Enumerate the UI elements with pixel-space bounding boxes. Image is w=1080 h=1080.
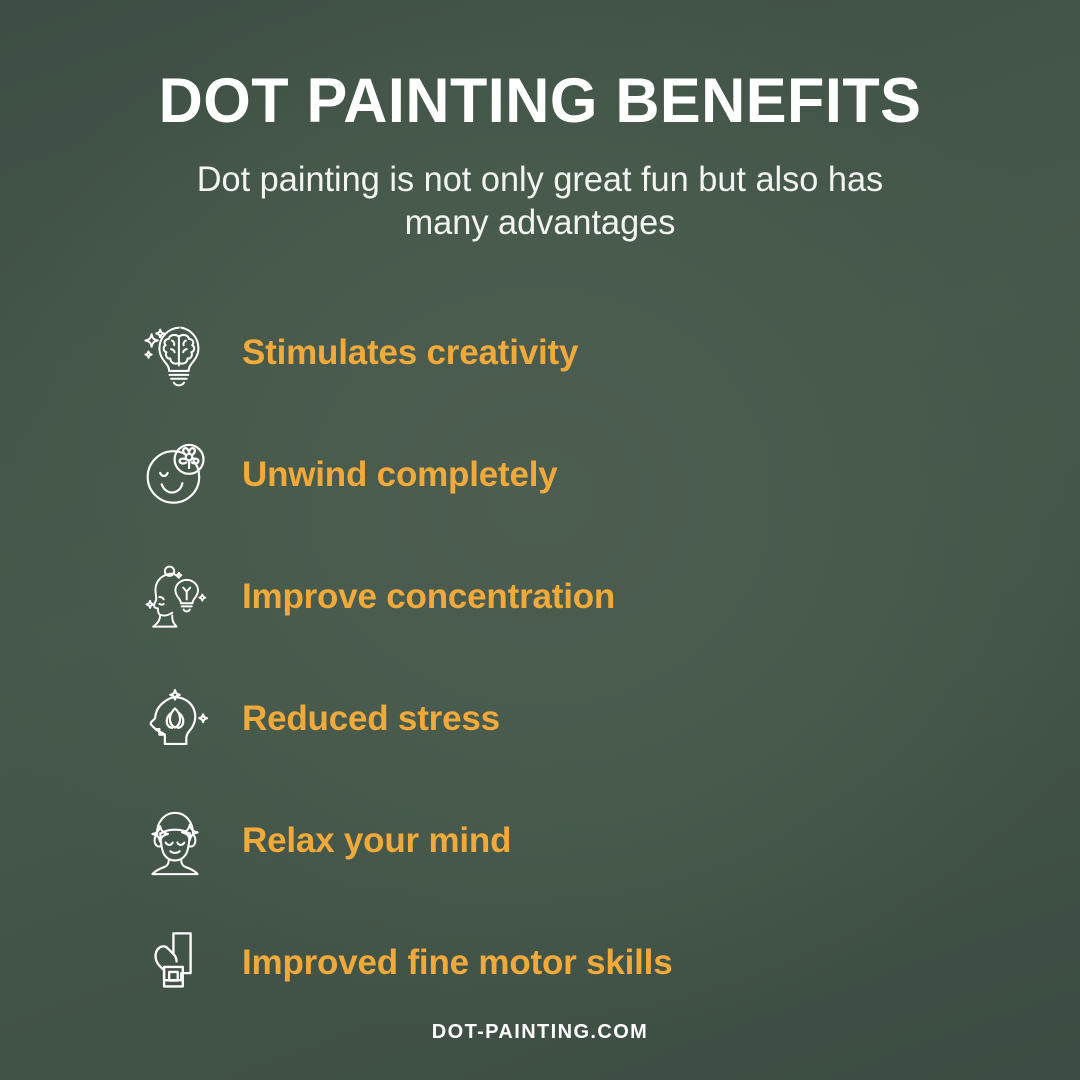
list-item: Reduced stress [136, 658, 1080, 780]
list-item: Improved fine motor skills [136, 902, 1080, 1024]
infographic-poster: DOT PAINTING BENEFITS Dot painting is no… [0, 0, 1080, 1080]
list-item-label: Stimulates creativity [242, 333, 578, 373]
list-item-label: Unwind completely [242, 455, 558, 495]
page-title: DOT PAINTING BENEFITS [16, 70, 1064, 133]
smiling-face-flower-icon [136, 435, 214, 515]
list-item: Improve concentration [136, 536, 1080, 658]
brain-lightbulb-icon [136, 313, 214, 393]
head-lightbulb-icon [136, 557, 214, 637]
list-item-label: Reduced stress [242, 699, 500, 739]
website-url: DOT-PAINTING.COM [432, 1021, 648, 1043]
list-item-label: Improved fine motor skills [242, 943, 672, 983]
poster-footer: DOT-PAINTING.COM [0, 1021, 1080, 1044]
list-item-label: Relax your mind [242, 821, 511, 861]
hand-pinching-icon [136, 923, 214, 1003]
benefits-list: Stimulates creativity [0, 292, 1080, 1024]
page-subtitle: Dot painting is not only great fun but a… [153, 159, 927, 244]
poster-header: DOT PAINTING BENEFITS Dot painting is no… [0, 0, 1080, 244]
list-item-label: Improve concentration [242, 577, 615, 617]
list-item: Stimulates creativity [136, 292, 1080, 414]
relaxed-face-sparkle-icon [136, 801, 214, 881]
list-item: Relax your mind [136, 780, 1080, 902]
list-item: Unwind completely [136, 414, 1080, 536]
head-lotus-icon [136, 679, 214, 759]
